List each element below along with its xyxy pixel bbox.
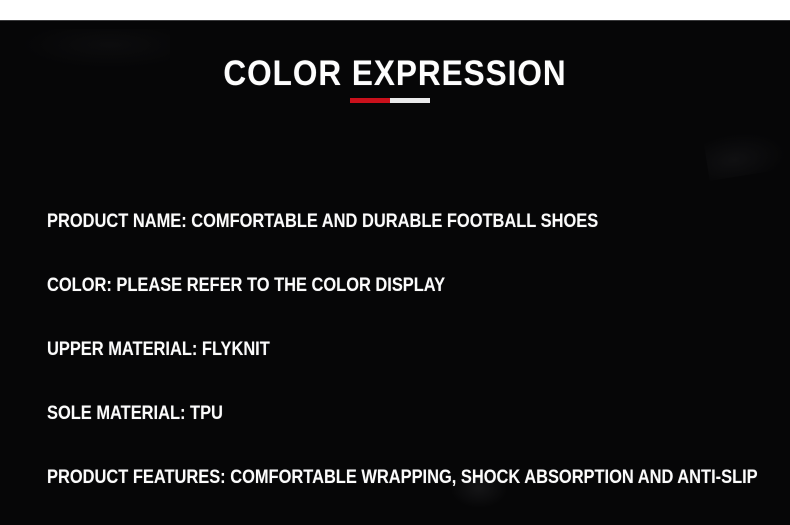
spec-line-color: COLOR: PLEASE REFER TO THE COLOR DISPLAY <box>47 275 670 339</box>
color-expression-panel: COLOR EXPRESSION PRODUCT NAME: COMFORTAB… <box>0 21 790 525</box>
spec-line-sole-material: SOLE MATERIAL: TPU <box>47 403 670 467</box>
product-detail-banner-screenshot: COLOR EXPRESSION PRODUCT NAME: COMFORTAB… <box>0 0 790 525</box>
product-spec-list: PRODUCT NAME: COMFORTABLE AND DURABLE FO… <box>47 211 767 525</box>
title-divider <box>350 98 430 103</box>
title-divider-white-segment <box>390 98 430 103</box>
background-ghost-artifact-right <box>703 127 787 181</box>
spec-line-product-name: PRODUCT NAME: COMFORTABLE AND DURABLE FO… <box>47 211 670 275</box>
page-title: COLOR EXPRESSION <box>40 52 751 96</box>
title-divider-red-segment <box>350 98 390 103</box>
spec-line-upper-material: UPPER MATERIAL: FLYKNIT <box>47 339 670 403</box>
spec-line-product-features: PRODUCT FEATURES: COMFORTABLE WRAPPING, … <box>47 467 670 525</box>
page-top-whitespace <box>0 0 790 20</box>
